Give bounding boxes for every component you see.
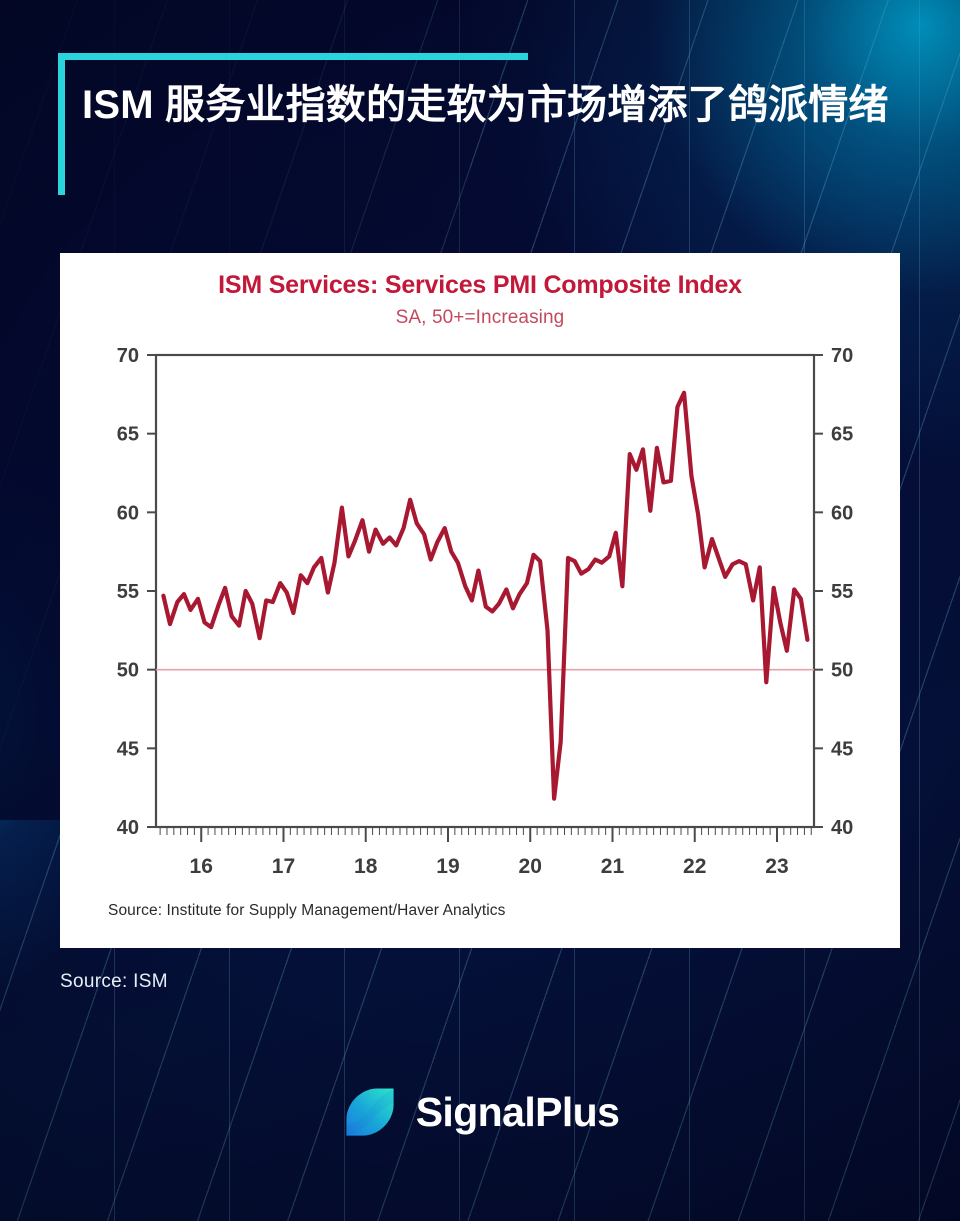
- svg-text:70: 70: [117, 345, 139, 367]
- svg-text:60: 60: [831, 502, 853, 524]
- headline-block: ISM 服务业指数的走软为市场增添了鸽派情绪: [58, 53, 618, 131]
- svg-text:55: 55: [831, 581, 853, 603]
- line-chart-svg: 4040454550505555606065657070161718192021…: [60, 343, 900, 903]
- svg-text:16: 16: [190, 855, 213, 878]
- svg-text:40: 40: [117, 817, 139, 839]
- brand-name: SignalPlus: [416, 1089, 620, 1136]
- chart-card: ISM Services: Services PMI Composite Ind…: [60, 253, 900, 948]
- svg-text:18: 18: [354, 855, 378, 878]
- page-title: ISM 服务业指数的走软为市场增添了鸽派情绪: [58, 53, 908, 131]
- chart-title: ISM Services: Services PMI Composite Ind…: [60, 253, 900, 300]
- svg-text:50: 50: [117, 660, 139, 682]
- svg-text:20: 20: [519, 855, 542, 878]
- source-note: Source: ISM: [60, 971, 168, 993]
- svg-text:22: 22: [683, 855, 706, 878]
- signalplus-logo-icon: [341, 1083, 399, 1141]
- svg-text:45: 45: [117, 738, 139, 760]
- svg-text:17: 17: [272, 855, 295, 878]
- svg-text:21: 21: [601, 855, 625, 878]
- svg-text:65: 65: [117, 424, 139, 446]
- headline-accent-top: [58, 53, 528, 60]
- chart-subtitle: SA, 50+=Increasing: [60, 300, 900, 329]
- svg-text:19: 19: [436, 855, 459, 878]
- svg-text:70: 70: [831, 345, 853, 367]
- svg-text:45: 45: [831, 738, 853, 760]
- svg-text:65: 65: [831, 424, 853, 446]
- svg-text:40: 40: [831, 817, 853, 839]
- svg-text:23: 23: [765, 855, 788, 878]
- svg-text:60: 60: [117, 502, 139, 524]
- svg-text:55: 55: [117, 581, 139, 603]
- chart-source-note: Source: Institute for Supply Management/…: [108, 902, 506, 920]
- svg-text:50: 50: [831, 660, 853, 682]
- brand-lockup: SignalPlus: [0, 1083, 960, 1141]
- headline-accent-left: [58, 53, 65, 195]
- chart-plot-area: 4040454550505555606065657070161718192021…: [60, 343, 900, 953]
